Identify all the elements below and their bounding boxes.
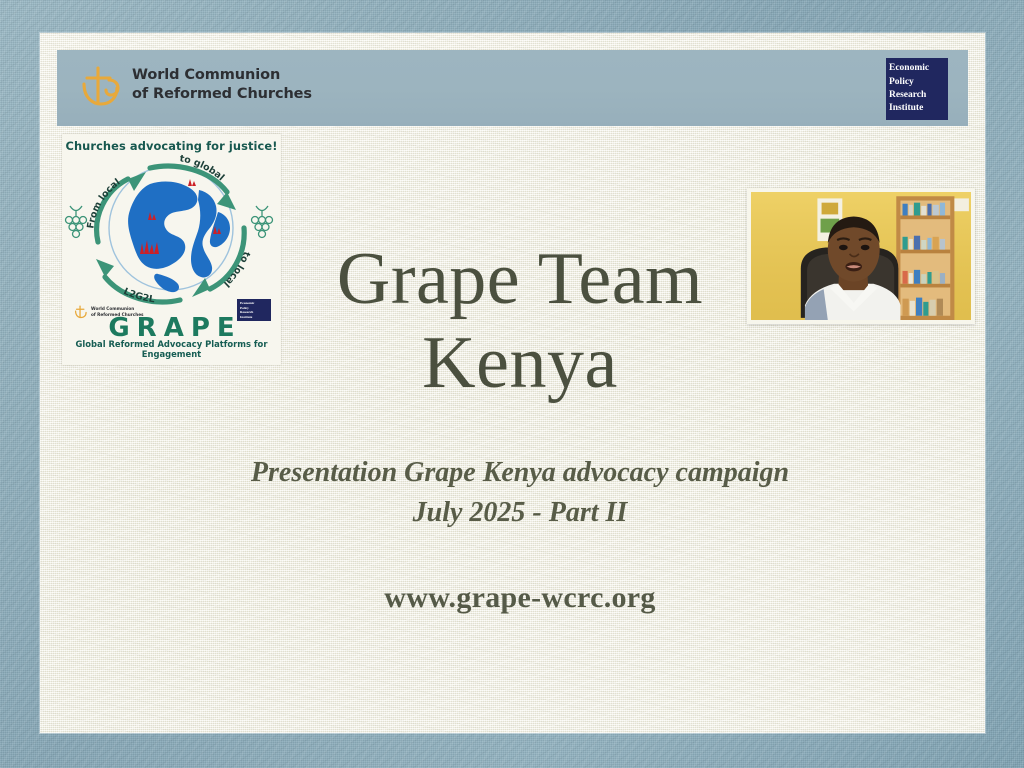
- title-line-2: Kenya: [190, 322, 850, 406]
- wcrc-logo: World Communion of Reformed Churches: [79, 62, 312, 108]
- website-url[interactable]: www.grape-wcrc.org: [140, 581, 900, 615]
- grapes-icon-right: [252, 206, 273, 238]
- subtitle: Presentation Grape Kenya advocacy campai…: [140, 453, 900, 533]
- arrow-label-from-local: From local: [85, 177, 122, 229]
- epri-logo: Economic Policy Research Institute: [886, 58, 948, 120]
- slide-header-band: World Communion of Reformed Churches Eco…: [57, 50, 968, 126]
- cross-anchor-icon: [79, 62, 123, 108]
- wcrc-logo-text: World Communion of Reformed Churches: [132, 66, 312, 104]
- video-image: [751, 192, 971, 320]
- arrow-label-l2g2l: L2G2L: [122, 286, 156, 305]
- grapes-icon-left: [66, 206, 87, 238]
- presenter-photo: [751, 192, 971, 320]
- epri-logo-text: Economic Policy Research Institute: [886, 62, 948, 116]
- slide-surface: World Communion of Reformed Churches Eco…: [40, 33, 985, 733]
- presentation-canvas: World Communion of Reformed Churches Eco…: [0, 0, 1024, 768]
- presenter-video-thumbnail[interactable]: [747, 188, 975, 324]
